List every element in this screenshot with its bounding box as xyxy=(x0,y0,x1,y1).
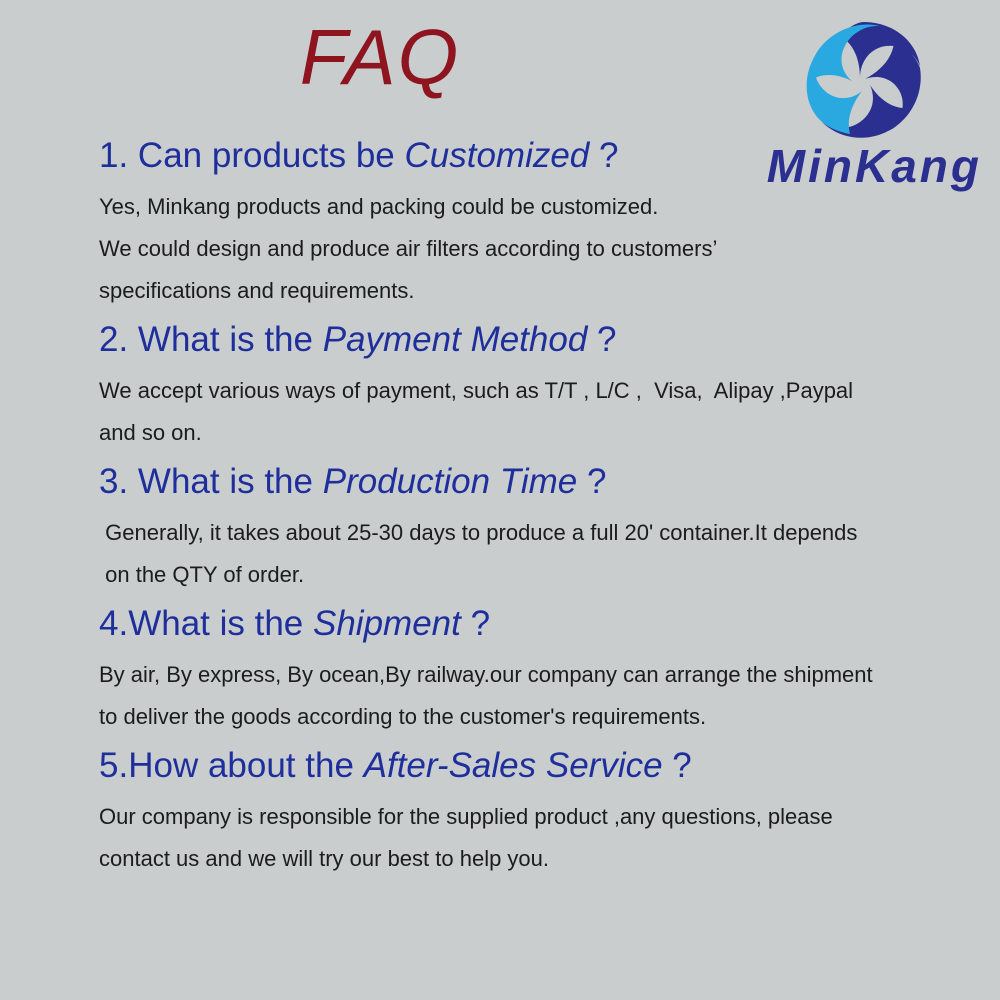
faq-question-keyword: Production Time xyxy=(323,462,578,501)
faq-item: 4.What is the Shipment ? By air, By expr… xyxy=(99,600,979,738)
faq-answer: We accept various ways of payment, such … xyxy=(99,370,979,454)
faq-question-text-after: ? xyxy=(461,604,490,643)
faq-item: 5.How about the After-Sales Service ? Ou… xyxy=(99,742,979,880)
faq-question-number: 1. xyxy=(99,136,138,175)
faq-page: FAQ xyxy=(0,0,1000,1000)
faq-question-text-after: ? xyxy=(577,462,606,501)
faq-question-text-before: What is the xyxy=(128,604,313,643)
faq-question-keyword: Shipment xyxy=(313,604,461,643)
faq-question-text-before: What is the xyxy=(138,320,323,359)
faq-question-number: 2. xyxy=(99,320,138,359)
faq-question: 5.How about the After-Sales Service ? xyxy=(99,742,979,790)
faq-question-keyword: Payment Method xyxy=(323,320,588,359)
faq-question-text-before: Can products be xyxy=(138,136,405,175)
faq-item: 3. What is the Production Time ? General… xyxy=(99,458,979,596)
faq-question-text-after: ? xyxy=(587,320,616,359)
faq-question-number: 5. xyxy=(99,746,128,785)
faq-item: 2. What is the Payment Method ? We accep… xyxy=(99,316,979,454)
faq-question: 2. What is the Payment Method ? xyxy=(99,316,979,364)
faq-answer: Generally, it takes about 25-30 days to … xyxy=(99,512,979,596)
faq-question: 1. Can products be Customized ? xyxy=(99,132,979,180)
faq-question-text-after: ? xyxy=(663,746,692,785)
faq-question-text-before: How about the xyxy=(128,746,363,785)
faq-question-keyword: After-Sales Service xyxy=(364,746,663,785)
faq-question-text-before: What is the xyxy=(138,462,323,501)
faq-question: 4.What is the Shipment ? xyxy=(99,600,979,648)
minkang-swirl-logo-icon xyxy=(804,16,928,140)
page-title: FAQ xyxy=(0,18,760,96)
faq-answer: Our company is responsible for the suppl… xyxy=(99,796,979,880)
faq-list: 1. Can products be Customized ? Yes, Min… xyxy=(99,132,979,882)
faq-question-number: 3. xyxy=(99,462,138,501)
faq-question-text-after: ? xyxy=(589,136,618,175)
faq-question-keyword: Customized xyxy=(404,136,589,175)
faq-question-number: 4. xyxy=(99,604,128,643)
faq-answer: By air, By express, By ocean,By railway.… xyxy=(99,654,979,738)
faq-question: 3. What is the Production Time ? xyxy=(99,458,979,506)
faq-item: 1. Can products be Customized ? Yes, Min… xyxy=(99,132,979,312)
faq-answer: Yes, Minkang products and packing could … xyxy=(99,186,979,312)
